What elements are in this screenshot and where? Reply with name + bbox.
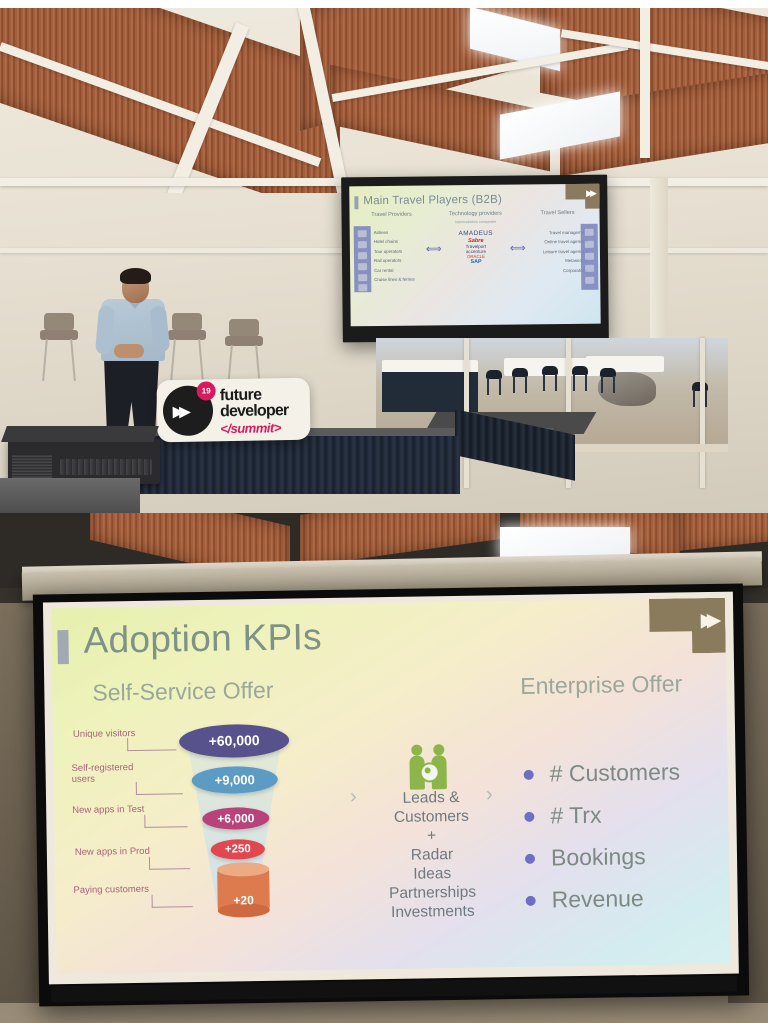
column-heading-providers: Travel Providers <box>354 211 430 218</box>
fast-forward-icon: ▸▸ <box>586 187 594 199</box>
projection-screen-slide2: Adoption KPIs ▸▸ Self-Service Offer Ente… <box>33 583 749 1006</box>
projection-screen-slide1: Main Travel Players (B2B) ▸▸ Travel Prov… <box>341 175 609 343</box>
heading-enterprise: Enterprise Offer <box>520 670 682 700</box>
middle-line-0: Leads & <box>372 787 490 808</box>
enterprise-offer-list: # Customers # Trx Bookings Revenue <box>523 758 682 928</box>
list-item: Airlines <box>374 228 415 238</box>
fast-forward-icon: ▸▸ <box>701 606 714 632</box>
slide1-columns: Travel Providers Technology providers In… <box>350 210 601 327</box>
list-item: Car rental <box>374 265 415 275</box>
providers-list: Airlines Hotel chains Tour operators Rai… <box>374 228 415 285</box>
bullet-icon <box>525 853 535 863</box>
photo-speaker-on-stage: Main Travel Players (B2B) ▸▸ Travel Prov… <box>0 8 768 513</box>
list-item: Tour operators <box>374 246 415 256</box>
slide2-title: Adoption KPIs <box>83 616 322 662</box>
funnel-label-1: Self-registered users <box>71 762 143 785</box>
list-item: Metasearch <box>516 256 588 266</box>
list-item: Cruise lines & ferries <box>374 275 415 285</box>
sellers-icon-strip <box>581 224 599 290</box>
middle-line-1: Customers <box>372 806 490 827</box>
list-item: Corporations <box>516 265 588 275</box>
photo-presentation-screen: Adoption KPIs ▸▸ Self-Service Offer Ente… <box>0 513 768 1023</box>
enterprise-item-3: Revenue <box>551 885 643 913</box>
chevron-left-icon: › <box>350 786 357 809</box>
floor-dark <box>0 478 140 513</box>
list-item: Bookings <box>525 842 682 871</box>
logo-amadeus: AMADEUS <box>437 229 515 237</box>
fast-forward-icon: ▸▸ <box>173 401 186 422</box>
list-item: Rail operators <box>374 256 415 266</box>
list-item: # Customers <box>523 758 680 787</box>
middle-line-5: Partnerships <box>373 882 491 903</box>
middle-line-2: + <box>373 825 491 846</box>
funnel-label-3: New apps in Prod <box>75 846 150 858</box>
brand-corner-slide2: ▸▸ <box>649 598 726 654</box>
list-item: Hotel chains <box>374 237 415 247</box>
list-item: Online travel agencies <box>516 237 588 247</box>
enterprise-item-0: # Customers <box>549 758 680 787</box>
bullet-icon <box>526 895 536 905</box>
enterprise-item-2: Bookings <box>551 843 646 871</box>
slide1-canvas: Main Travel Players (B2B) ▸▸ Travel Prov… <box>349 184 600 327</box>
column-heading-technology: Technology providers <box>434 211 518 218</box>
logo-sap: SAP <box>437 259 515 266</box>
event-logo-sign: ▸▸ 19 future developer </summit> <box>156 378 310 443</box>
funnel-label-0: Unique visitors <box>73 728 135 740</box>
slide1-title-tab <box>354 196 358 209</box>
middle-line-4: Ideas <box>373 863 491 884</box>
sign-line-developer: developer <box>220 402 289 421</box>
bullet-icon <box>524 811 534 821</box>
column-heading-sellers: Travel Sellers <box>518 210 598 217</box>
list-item: # Trx <box>524 800 681 829</box>
ceiling <box>0 8 768 193</box>
people-group-icon <box>371 743 490 789</box>
providers-icon-strip <box>354 226 372 292</box>
slide2-canvas: Adoption KPIs ▸▸ Self-Service Offer Ente… <box>51 598 731 975</box>
stage-front-skirt <box>110 436 460 494</box>
enterprise-item-1: # Trx <box>550 802 602 830</box>
middle-value-block: Leads & Customers + Radar Ideas Partners… <box>371 743 492 922</box>
slide2-title-tab <box>57 630 69 664</box>
sign-line-summit: </summit> <box>220 420 281 436</box>
year-badge: 19 <box>196 381 215 400</box>
list-item: Revenue <box>525 884 682 913</box>
funnel-stage-4-label: +20 <box>218 893 270 908</box>
bullet-icon <box>524 769 534 779</box>
funnel-stage-4: +20 <box>217 869 270 911</box>
heading-self-service: Self-Service Offer <box>92 677 273 707</box>
door-mullion <box>700 338 705 488</box>
funnel-label-2: New apps in Test <box>72 804 144 816</box>
photo-pair-collage: Main Travel Players (B2B) ▸▸ Travel Prov… <box>0 0 768 1023</box>
middle-line-3: Radar <box>373 844 491 865</box>
middle-line-6: Investments <box>374 901 492 922</box>
brand-corner-slide1: ▸▸ <box>565 184 599 209</box>
slide1-title: Main Travel Players (B2B) <box>363 194 502 207</box>
column-subheading-technology: Intermediation companies <box>434 220 518 225</box>
technology-logos: AMADEUS Sabre Travelport accenture ORACL… <box>437 228 515 266</box>
funnel-label-4: Paying customers <box>73 884 149 896</box>
adoption-funnel-chart: +60,000 +9,000 +6,000 +250 +20 Unique vi… <box>171 721 299 919</box>
sellers-list: Travel management Online travel agencies… <box>516 228 588 276</box>
